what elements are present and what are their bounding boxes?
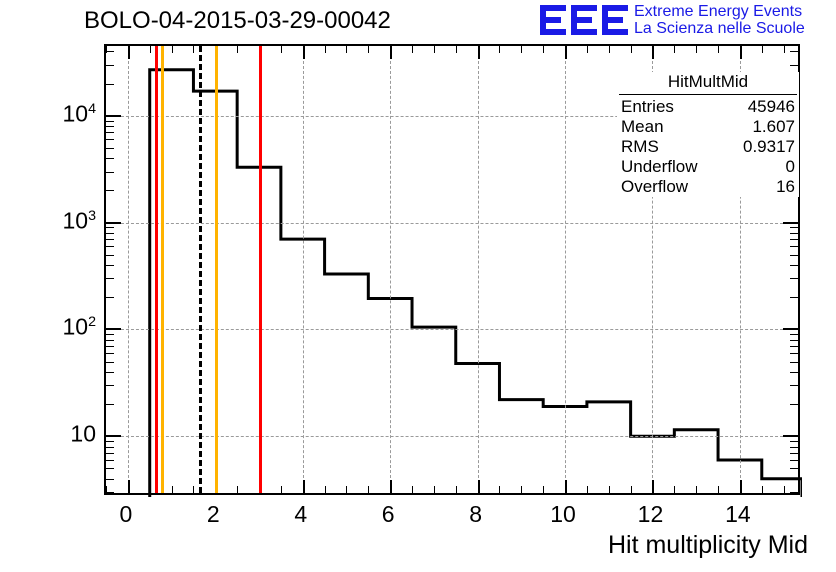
eee-logo: Extreme Energy Events La Scienza nelle S…	[538, 2, 836, 42]
x-tick-label: 14	[725, 501, 751, 528]
y-tick-minor	[106, 334, 114, 335]
x-tick-minor	[543, 486, 544, 493]
x-tick-minor-top	[784, 46, 785, 53]
y-tick-minor	[106, 441, 114, 442]
x-tick-minor-top	[281, 46, 282, 53]
y-tick-minor-right	[790, 492, 798, 493]
y-tick-minor	[106, 362, 114, 363]
x-tick-minor-top	[412, 46, 413, 53]
x-tick-minor-top	[718, 46, 719, 53]
x-tick-minor	[325, 486, 326, 493]
y-tick-minor	[106, 227, 114, 228]
stats-title: HitMultMid	[619, 72, 797, 95]
stats-row-key: Mean	[621, 117, 664, 137]
gridline-horizontal	[106, 329, 798, 330]
stats-row-key: RMS	[621, 137, 659, 157]
y-tick-major-right	[783, 435, 798, 437]
x-tick-minor	[412, 486, 413, 493]
gridline-vertical	[390, 46, 391, 493]
stats-row-key: Underflow	[621, 157, 698, 177]
y-tick-minor-right	[790, 385, 798, 386]
x-tick-major	[390, 480, 392, 493]
marker-line-threshold-orange-high	[215, 46, 218, 493]
stats-row: Entries45946	[617, 97, 799, 117]
x-tick-major-top	[128, 46, 130, 59]
gridline-vertical	[478, 46, 479, 493]
y-tick-minor-right	[790, 255, 798, 256]
x-tick-label: 2	[207, 501, 220, 528]
x-tick-minor-top	[237, 46, 238, 53]
y-tick-minor-right	[790, 65, 798, 66]
y-tick-minor	[106, 190, 114, 191]
x-tick-minor-top	[587, 46, 588, 53]
gridline-vertical	[128, 46, 129, 493]
page-title: BOLO-04-2015-03-29-00042	[84, 7, 391, 35]
eee-logo-line2: La Scienza nelle Scuole	[634, 20, 805, 37]
y-tick-minor-right	[790, 468, 798, 469]
y-tick-label: 103	[16, 207, 96, 234]
y-tick-minor-right	[790, 51, 798, 52]
y-tick-minor	[106, 239, 114, 240]
x-tick-label: 0	[119, 501, 132, 528]
y-tick-minor-right	[790, 297, 798, 298]
y-tick-label: 10	[16, 421, 96, 448]
stats-row-value: 0	[786, 157, 795, 177]
stats-row-value: 45946	[748, 97, 795, 117]
y-tick-minor	[106, 404, 114, 405]
y-tick-minor	[106, 233, 114, 234]
stats-row: Overflow16	[617, 177, 799, 197]
y-tick-minor	[106, 158, 114, 159]
y-tick-minor	[106, 453, 114, 454]
y-tick-minor-right	[790, 278, 798, 279]
x-tick-minor	[281, 486, 282, 493]
y-tick-major	[106, 435, 121, 437]
x-tick-minor	[674, 486, 675, 493]
gridline-horizontal	[106, 223, 798, 224]
x-tick-major-top	[303, 46, 305, 59]
x-tick-minor-top	[631, 46, 632, 53]
y-tick-minor	[106, 297, 114, 298]
x-tick-major	[565, 480, 567, 493]
stats-row: RMS0.9317	[617, 137, 799, 157]
y-tick-minor	[106, 385, 114, 386]
gridline-horizontal	[106, 436, 798, 437]
y-tick-major-right	[783, 328, 798, 330]
y-tick-label: 102	[16, 314, 96, 341]
x-tick-minor	[346, 486, 347, 493]
gridline-vertical	[565, 46, 566, 493]
y-tick-minor-right	[790, 447, 798, 448]
x-tick-minor-top	[499, 46, 500, 53]
y-tick-minor	[106, 121, 114, 122]
gridline-vertical	[303, 46, 304, 493]
x-tick-minor-top	[609, 46, 610, 53]
y-tick-minor	[106, 126, 114, 127]
x-tick-minor	[718, 486, 719, 493]
x-tick-minor	[631, 486, 632, 493]
stats-row: Underflow0	[617, 157, 799, 177]
marker-line-threshold-orange-low	[161, 46, 164, 493]
x-axis-title: Hit multiplicity Mid	[608, 531, 808, 560]
stats-row-value: 0.9317	[743, 137, 795, 157]
x-tick-minor-top	[543, 46, 544, 53]
y-tick-minor-right	[790, 340, 798, 341]
y-tick-minor	[106, 148, 114, 149]
x-tick-label: 10	[550, 501, 576, 528]
stats-row-value: 16	[776, 177, 795, 197]
x-tick-major-top	[565, 46, 567, 59]
x-tick-minor	[784, 486, 785, 493]
x-tick-minor-top	[696, 46, 697, 53]
x-tick-minor-top	[325, 46, 326, 53]
x-tick-minor-top	[172, 46, 173, 53]
y-tick-minor	[106, 468, 114, 469]
x-tick-minor	[762, 486, 763, 493]
eee-logo-mark	[538, 3, 630, 37]
y-tick-minor-right	[790, 334, 798, 335]
x-tick-label: 4	[294, 501, 307, 528]
x-tick-minor-top	[762, 46, 763, 53]
y-tick-minor-right	[790, 479, 798, 480]
x-tick-minor	[193, 486, 194, 493]
y-tick-minor-right	[790, 453, 798, 454]
x-tick-minor-top	[434, 46, 435, 53]
x-tick-minor	[456, 486, 457, 493]
stats-box: HitMultMid Entries45946Mean1.607RMS0.931…	[617, 72, 799, 197]
y-tick-minor	[106, 278, 114, 279]
y-tick-minor	[106, 139, 114, 140]
y-tick-minor-right	[790, 362, 798, 363]
x-tick-minor	[368, 486, 369, 493]
x-tick-minor	[172, 486, 173, 493]
stats-row-key: Overflow	[621, 177, 688, 197]
y-tick-minor-right	[790, 372, 798, 373]
y-tick-major	[106, 222, 121, 224]
x-tick-minor-top	[150, 46, 151, 53]
x-tick-label: 12	[638, 501, 664, 528]
x-tick-major-top	[652, 46, 654, 59]
y-tick-major	[106, 115, 121, 117]
x-tick-major-top	[390, 46, 392, 59]
marker-line-threshold-red-low	[155, 46, 158, 493]
eee-logo-text: Extreme Energy Events La Scienza nelle S…	[634, 3, 805, 37]
x-tick-minor	[434, 486, 435, 493]
stats-row: Mean1.607	[617, 117, 799, 137]
y-tick-minor-right	[790, 227, 798, 228]
x-tick-minor-top	[674, 46, 675, 53]
y-tick-minor-right	[790, 441, 798, 442]
y-tick-minor-right	[790, 239, 798, 240]
eee-logo-line1: Extreme Energy Events	[634, 3, 805, 20]
marker-line-threshold-red-high	[259, 46, 262, 493]
y-tick-minor	[106, 255, 114, 256]
stats-row-key: Entries	[621, 97, 674, 117]
x-tick-major	[478, 480, 480, 493]
stats-row-value: 1.607	[752, 117, 795, 137]
y-tick-minor	[106, 479, 114, 480]
marker-line-mean-dashed	[199, 46, 202, 493]
x-tick-minor	[521, 486, 522, 493]
root-canvas: BOLO-04-2015-03-29-00042 Extreme Energy …	[0, 0, 836, 572]
stats-rows: Entries45946Mean1.607RMS0.9317Underflow0…	[617, 97, 799, 197]
x-tick-minor-top	[521, 46, 522, 53]
x-tick-major	[128, 480, 130, 493]
x-tick-major-top	[478, 46, 480, 59]
x-tick-major-top	[740, 46, 742, 59]
x-tick-minor	[499, 486, 500, 493]
y-tick-minor-right	[790, 265, 798, 266]
y-tick-label: 104	[16, 100, 96, 127]
y-tick-minor	[106, 65, 114, 66]
y-tick-minor	[106, 132, 114, 133]
y-tick-minor	[106, 447, 114, 448]
y-tick-major	[106, 328, 121, 330]
x-tick-label: 6	[382, 501, 395, 528]
x-tick-minor-top	[456, 46, 457, 53]
x-tick-minor	[237, 486, 238, 493]
y-tick-minor	[106, 265, 114, 266]
x-tick-minor	[609, 486, 610, 493]
y-tick-major-right	[783, 222, 798, 224]
x-tick-minor	[696, 486, 697, 493]
x-tick-minor	[587, 486, 588, 493]
y-tick-minor-right	[790, 233, 798, 234]
y-tick-minor	[106, 340, 114, 341]
y-tick-minor	[106, 372, 114, 373]
x-tick-major	[652, 480, 654, 493]
y-tick-minor	[106, 84, 114, 85]
x-tick-major	[740, 480, 742, 493]
y-tick-minor-right	[790, 460, 798, 461]
y-tick-minor-right	[790, 353, 798, 354]
x-tick-minor	[150, 486, 151, 493]
y-tick-minor	[106, 51, 114, 52]
y-tick-minor	[106, 353, 114, 354]
x-tick-minor-top	[193, 46, 194, 53]
y-tick-minor	[106, 346, 114, 347]
y-tick-minor	[106, 492, 114, 493]
x-tick-minor-top	[346, 46, 347, 53]
x-tick-minor-top	[368, 46, 369, 53]
x-tick-major	[303, 480, 305, 493]
y-tick-minor-right	[790, 404, 798, 405]
y-tick-minor	[106, 460, 114, 461]
y-tick-minor-right	[790, 346, 798, 347]
y-tick-minor-right	[790, 246, 798, 247]
x-tick-label: 8	[469, 501, 482, 528]
y-tick-minor	[106, 246, 114, 247]
y-tick-minor	[106, 172, 114, 173]
